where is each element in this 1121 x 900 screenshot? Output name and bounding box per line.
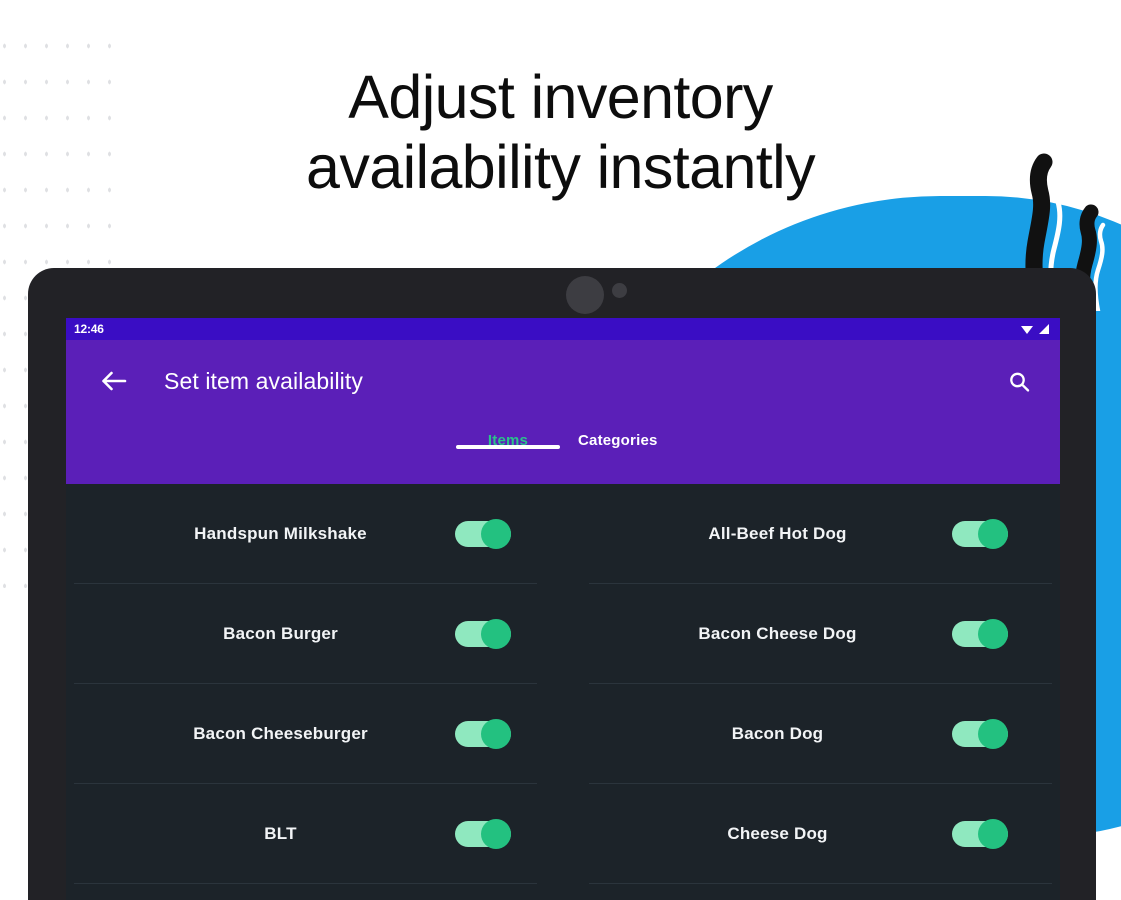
list-item[interactable]: All-Beef Hot Dog	[563, 484, 1060, 584]
promo-screenshot: Adjust inventory availability instantly …	[0, 0, 1121, 900]
toggle-knob	[978, 719, 1008, 749]
item-name: BLT	[66, 824, 455, 844]
item-grid: Handspun Milkshake All-Beef Hot Dog Baco…	[66, 484, 1060, 884]
toggle-knob	[978, 619, 1008, 649]
item-name: Cheese Dog	[563, 824, 952, 844]
toggle-knob	[481, 519, 511, 549]
page-title: Adjust inventory availability instantly	[0, 62, 1121, 202]
toggle-knob	[978, 519, 1008, 549]
availability-toggle[interactable]	[952, 621, 1008, 647]
search-icon	[1007, 370, 1031, 394]
availability-toggle[interactable]	[455, 521, 511, 547]
back-button[interactable]	[94, 361, 134, 401]
item-name: Handspun Milkshake	[66, 524, 455, 544]
proximity-sensor-icon	[612, 283, 627, 298]
status-time: 12:46	[74, 322, 104, 336]
item-name: Bacon Burger	[66, 624, 455, 644]
search-button[interactable]	[998, 361, 1040, 403]
list-item[interactable]: Bacon Burger	[66, 584, 563, 684]
list-item[interactable]: Bacon Cheese Dog	[563, 584, 1060, 684]
availability-toggle[interactable]	[952, 721, 1008, 747]
toggle-knob	[481, 619, 511, 649]
item-name: Bacon Cheeseburger	[66, 724, 455, 744]
item-availability-list: Handspun Milkshake All-Beef Hot Dog Baco…	[66, 484, 1060, 900]
list-item[interactable]: Cheese Dog	[563, 784, 1060, 884]
tab-categories-label: Categories	[578, 432, 658, 449]
wifi-icon	[1020, 323, 1034, 335]
tab-active-indicator	[456, 445, 560, 449]
status-icons	[1020, 323, 1050, 335]
toggle-knob	[481, 819, 511, 849]
item-name: Bacon Cheese Dog	[563, 624, 952, 644]
app-bar-top-row: Set item availability	[66, 340, 1060, 422]
item-name: Bacon Dog	[563, 724, 952, 744]
device-screen: 12:46 Set item availability	[66, 318, 1060, 900]
tab-bar: Items Categories	[66, 426, 1060, 484]
tab-items[interactable]: Items	[456, 426, 560, 449]
app-bar: Set item availability Items Categories	[66, 340, 1060, 484]
availability-toggle[interactable]	[455, 721, 511, 747]
list-item[interactable]: Handspun Milkshake	[66, 484, 563, 584]
toggle-knob	[978, 819, 1008, 849]
availability-toggle[interactable]	[952, 821, 1008, 847]
list-item[interactable]: BLT	[66, 784, 563, 884]
cellular-signal-icon	[1037, 323, 1050, 335]
availability-toggle[interactable]	[455, 821, 511, 847]
app-bar-title: Set item availability	[164, 368, 363, 395]
item-name: All-Beef Hot Dog	[563, 524, 952, 544]
toggle-knob	[481, 719, 511, 749]
back-arrow-icon	[101, 370, 127, 392]
availability-toggle[interactable]	[952, 521, 1008, 547]
status-bar: 12:46	[66, 318, 1060, 340]
list-item[interactable]: Bacon Cheeseburger	[66, 684, 563, 784]
list-item[interactable]: Bacon Dog	[563, 684, 1060, 784]
tab-categories[interactable]: Categories	[560, 426, 676, 449]
availability-toggle[interactable]	[455, 621, 511, 647]
front-camera-lens-icon	[566, 276, 604, 314]
